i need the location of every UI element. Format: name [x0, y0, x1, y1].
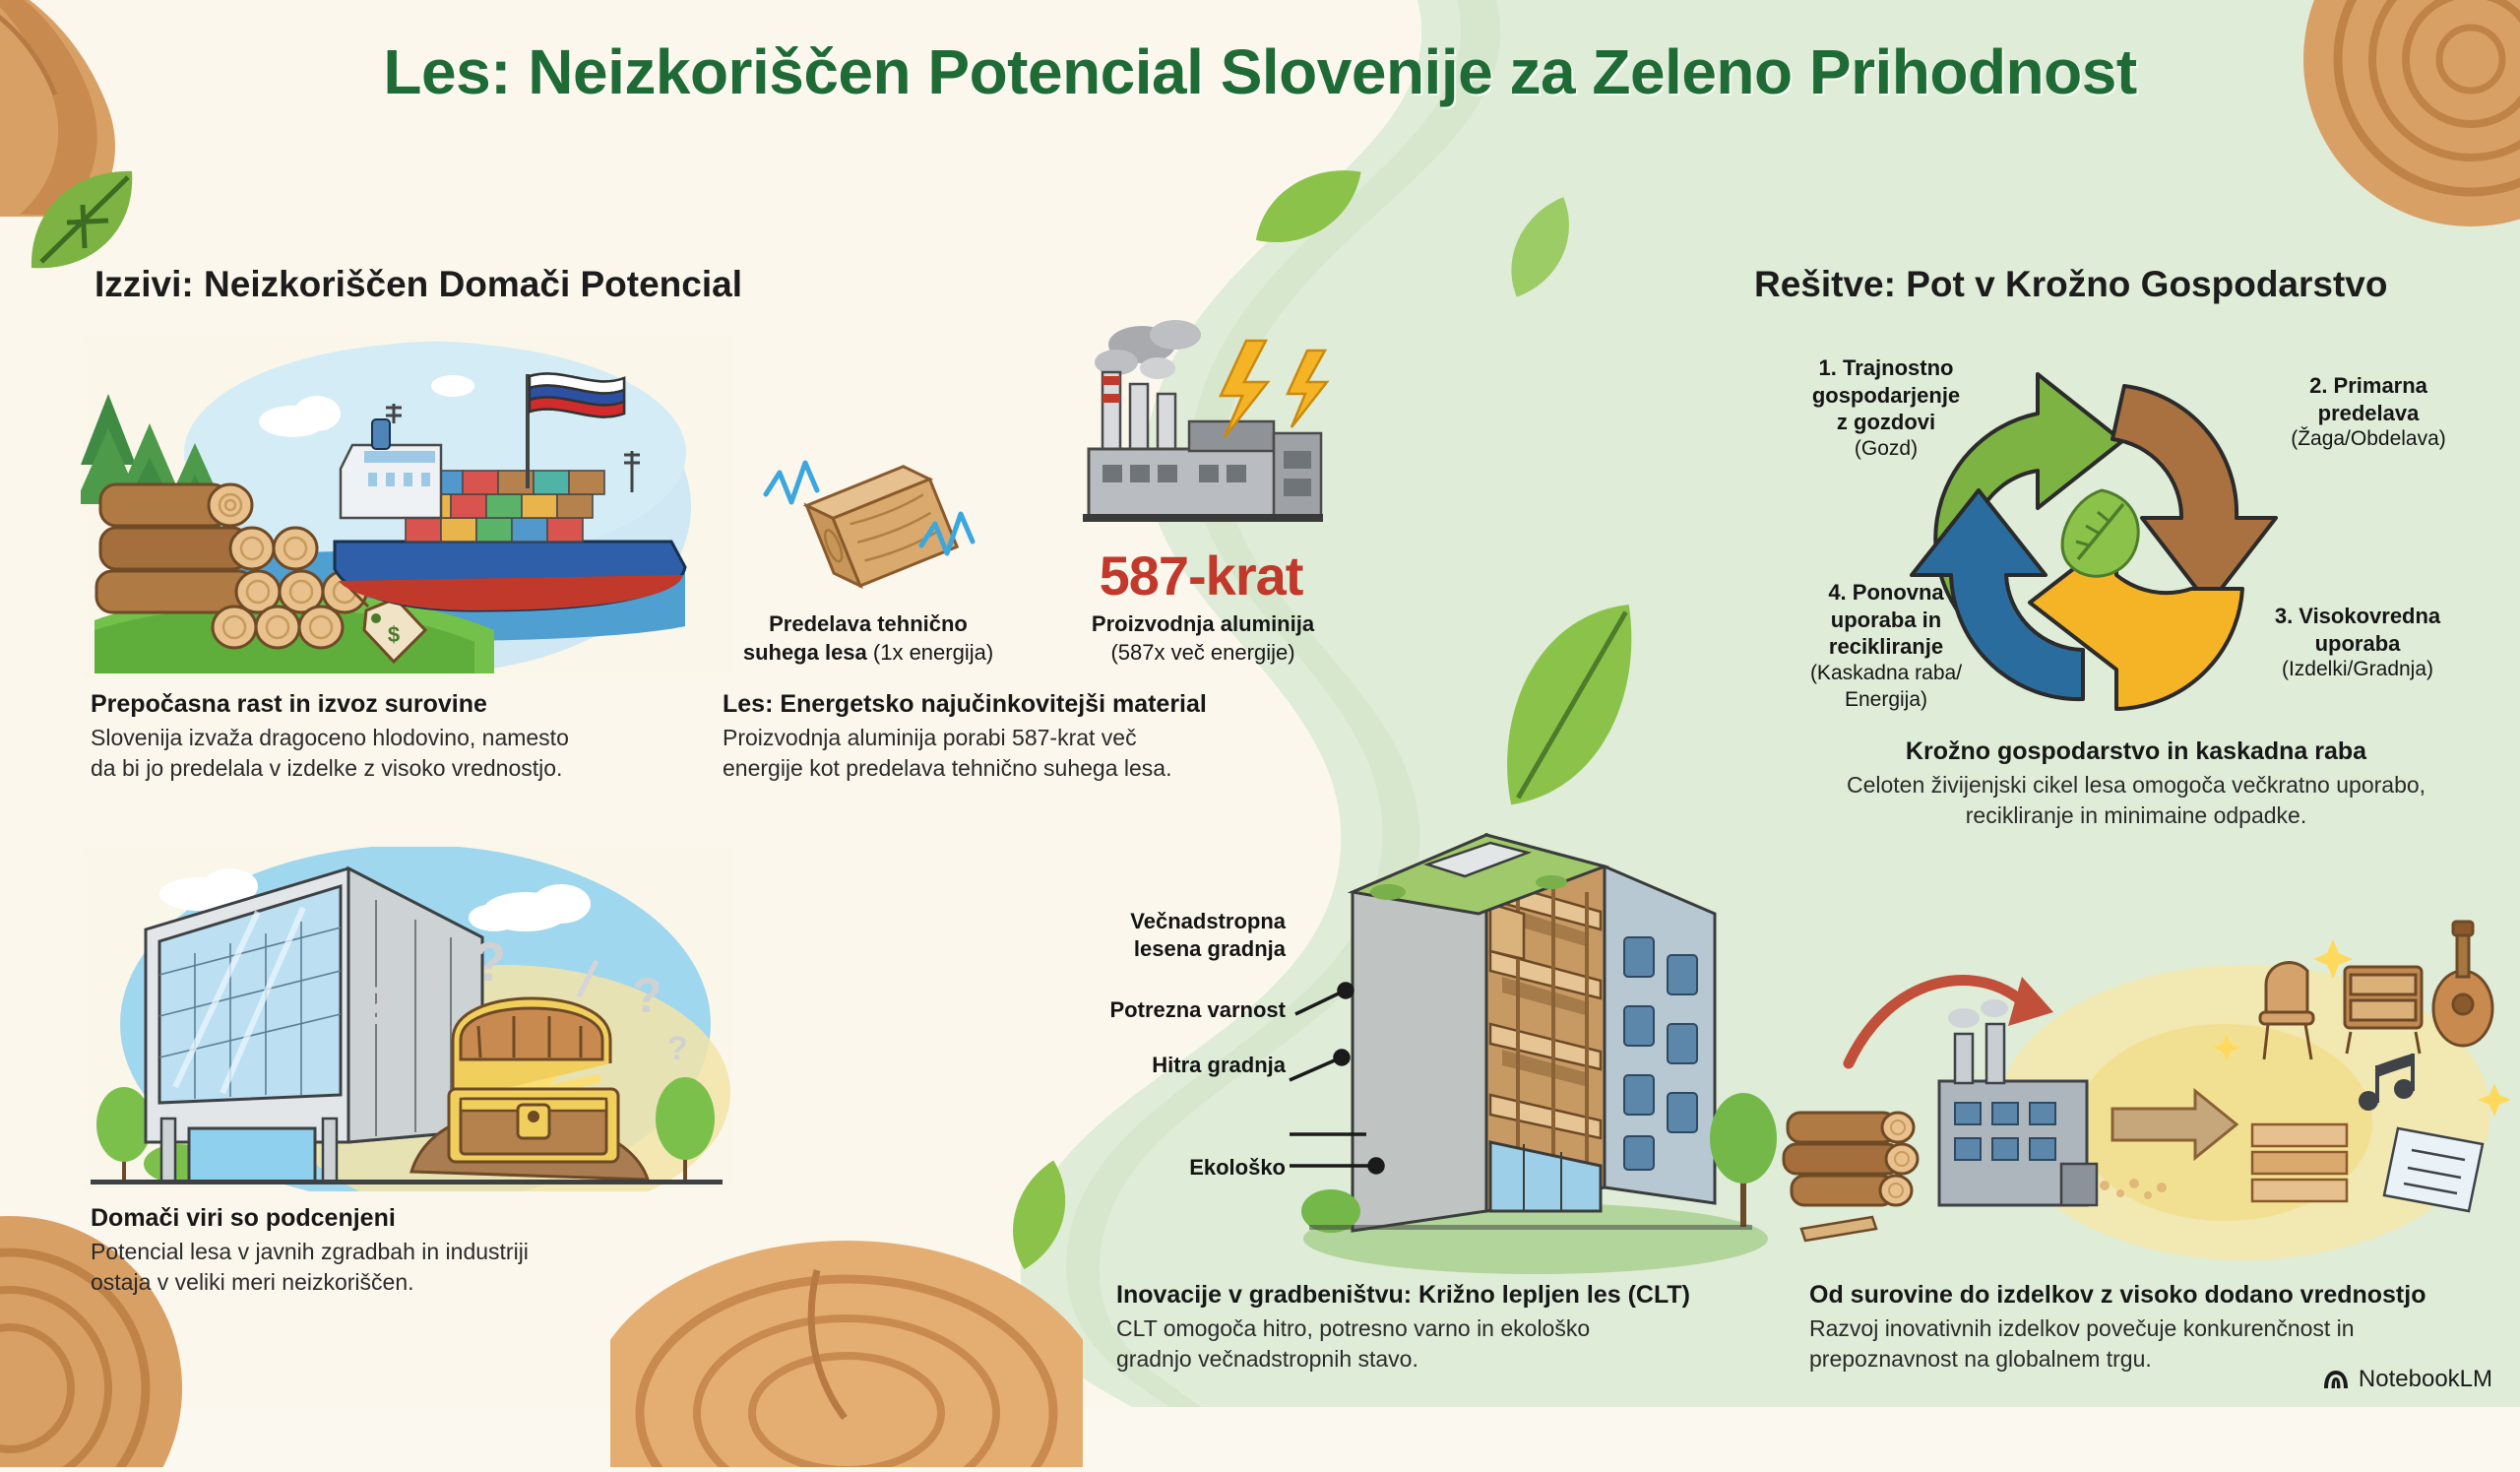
- caption-circular-desc-2: recikliranje in minimaine odpadke.: [1772, 800, 2500, 831]
- notebooklm-watermark-label: NotebookLM: [2359, 1366, 2492, 1393]
- callout-ecological: Ekološko: [1000, 1154, 1286, 1182]
- caption-products: Od surovine do izdelkov z visoko dodano …: [1809, 1280, 2520, 1375]
- svg-text:?: ?: [472, 930, 506, 992]
- label-wood-processing-line1: Predelava tehnično: [721, 610, 1016, 639]
- section-heading-challenges: Izzivi: Neizkoriščen Domači Potencial: [94, 264, 742, 305]
- callout-fast-construction: Hitra gradnja: [1000, 1052, 1286, 1079]
- svg-text:?: ?: [358, 977, 391, 1036]
- big-number-587-krat: 587-krat: [1043, 544, 1358, 608]
- caption-clt-desc-2: gradnjo večnadstropnih stavo.: [1116, 1344, 1923, 1375]
- cycle-step-1-line2: gospodarjenje: [1738, 382, 2034, 410]
- label-aluminium-line2: (587x več energije): [1045, 639, 1360, 668]
- illustration-wood-products: [1782, 916, 2510, 1270]
- leaf-icon-top-center: [1249, 149, 1366, 266]
- callout-multistorey-line1: Večnadstropna: [1000, 908, 1286, 935]
- cycle-step-1-line1: 1. Trajnostno: [1738, 354, 2034, 382]
- cycle-step-2-line2: predelava: [2221, 400, 2516, 427]
- label-wood-processing-line2-bold: suhega lesa: [743, 640, 867, 665]
- cycle-step-1-line3: z gozdovi: [1738, 409, 2034, 436]
- label-wood-processing-line2-thin: (1x energija): [867, 640, 993, 665]
- illustration-aluminium-factory: [1073, 315, 1368, 551]
- cycle-step-3-sub: (Izdelki/Gradnja): [2205, 657, 2510, 682]
- cycle-step-4-reuse-recycling: 4. Ponovna uporaba in recikliranje (Kask…: [1732, 579, 2040, 713]
- svg-text:$: $: [388, 622, 400, 647]
- page-title: Les: Neizkoriščen Potencial Slovenije za…: [0, 35, 2520, 108]
- cycle-step-3-high-value-use: 3. Visokovredna uporaba (Izdelki/Gradnja…: [2205, 603, 2510, 683]
- caption-clt: Inovacije v gradbeništvu: Križno lepljen…: [1116, 1280, 1923, 1375]
- caption-undervalued-desc-1: Potencial lesa v javnih zgradbah in indu…: [91, 1237, 780, 1267]
- callout-multistorey-wood-construction: Večnadstropna lesena gradnja: [1000, 908, 1286, 962]
- caption-export-title: Prepočasna rast in izvoz surovine: [91, 689, 780, 720]
- cycle-step-4-line3: recikliranje: [1732, 633, 2040, 661]
- cycle-step-2-primary-processing: 2. Primarna predelava (Žaga/Obdelava): [2221, 372, 2516, 453]
- caption-energy-title: Les: Energetsko najučinkovitejši materia…: [723, 689, 1471, 720]
- cycle-step-2-sub: (Žaga/Obdelava): [2221, 426, 2516, 452]
- cycle-step-1-sustainable-forestry: 1. Trajnostno gospodarjenje z gozdovi (G…: [1738, 354, 2034, 463]
- caption-clt-title: Inovacije v gradbeništvu: Križno lepljen…: [1116, 1280, 1923, 1311]
- callout-seismic-safety-line1: Potrezna varnost: [1000, 996, 1286, 1024]
- svg-text:?: ?: [419, 958, 443, 1001]
- caption-export-desc-2: da bi jo predelala v izdelke z visoko vr…: [91, 753, 780, 784]
- illustration-public-building-treasure: ? ? ? ? ?: [81, 847, 732, 1191]
- caption-undervalued-title: Domači viri so podcenjeni: [91, 1203, 780, 1234]
- cycle-step-3-line1: 3. Visokovredna: [2205, 603, 2510, 630]
- caption-circular-desc-1: Celoten živijenjski cikel lesa omogoča v…: [1772, 770, 2500, 800]
- caption-undervalued-desc-2: ostaja v veliki meri neizkoriščen.: [91, 1267, 780, 1298]
- illustration-wood-beam: [748, 423, 984, 610]
- svg-text:?: ?: [632, 968, 662, 1023]
- caption-export-desc-1: Slovenija izvaža dragoceno hlodovino, na…: [91, 723, 780, 753]
- notebooklm-logo-icon: [2322, 1369, 2350, 1390]
- label-aluminium-production: Proizvodnja aluminija (587x več energije…: [1045, 610, 1360, 667]
- label-wood-processing: Predelava tehnično suhega lesa (1x energ…: [721, 610, 1016, 667]
- caption-export: Prepočasna rast in izvoz surovine Sloven…: [91, 689, 780, 784]
- callout-fast-construction-line1: Hitra gradnja: [1000, 1052, 1286, 1079]
- cycle-step-3-line2: uporaba: [2205, 630, 2510, 658]
- cycle-step-4-line2: uporaba in: [1732, 607, 2040, 634]
- section-heading-solutions: Rešitve: Pot v Krožno Gospodarstvo: [1754, 264, 2388, 305]
- cycle-step-2-line1: 2. Primarna: [2221, 372, 2516, 400]
- cycle-step-1-sub: (Gozd): [1738, 436, 2034, 462]
- caption-products-title: Od surovine do izdelkov z visoko dodano …: [1809, 1280, 2520, 1311]
- callout-seismic-safety: Potrezna varnost: [1000, 996, 1286, 1024]
- caption-clt-desc-1: CLT omogoča hitro, potresno varno in eko…: [1116, 1313, 1923, 1344]
- caption-undervalued: Domači viri so podcenjeni Potencial lesa…: [91, 1203, 780, 1298]
- caption-products-desc-1: Razvoj inovativnih izdelkov povečuje kon…: [1809, 1313, 2520, 1344]
- caption-circular-economy: Krožno gospodarstvo in kaskadna raba Cel…: [1772, 736, 2500, 831]
- callout-ecological-line1: Ekološko: [1000, 1154, 1286, 1182]
- illustration-log-export-ship: $: [81, 335, 732, 679]
- cycle-step-4-sub: (Kaskadna raba/ Energija): [1732, 661, 2040, 713]
- caption-circular-title: Krožno gospodarstvo in kaskadna raba: [1772, 736, 2500, 767]
- callout-multistorey-line2: lesena gradnja: [1000, 935, 1286, 963]
- svg-text:?: ?: [667, 1030, 688, 1067]
- notebooklm-watermark: NotebookLM: [2322, 1366, 2492, 1393]
- label-aluminium-line1: Proizvodnja aluminija: [1045, 610, 1360, 639]
- cycle-step-4-line1: 4. Ponovna: [1732, 579, 2040, 607]
